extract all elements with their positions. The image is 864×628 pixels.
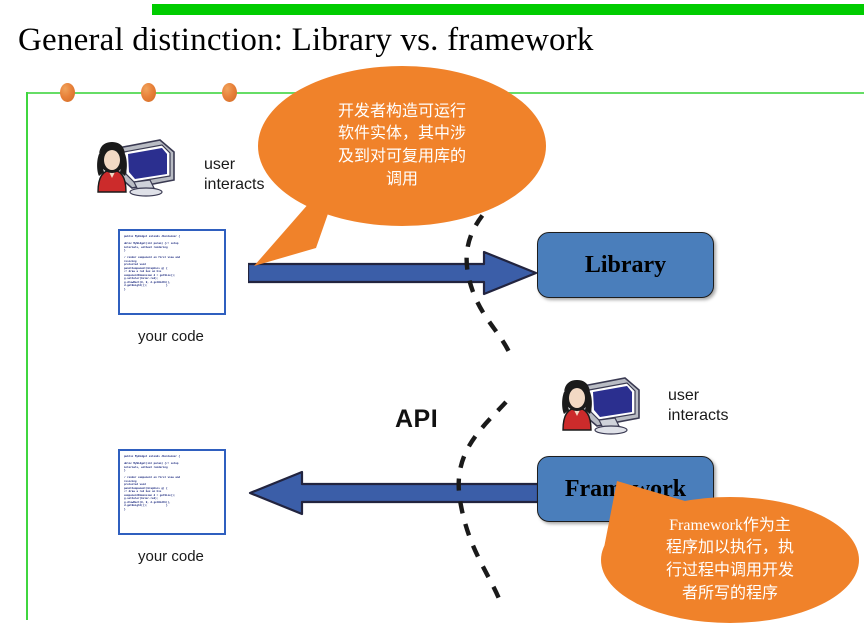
user-computer-icon — [88, 136, 180, 198]
vertical-rule — [26, 92, 28, 620]
decorative-bullet-3 — [222, 83, 237, 102]
library-callout: 开发者构造可运行 软件实体，其中涉 及到对可复用库的 调用 — [258, 66, 546, 226]
callout-line: 者所写的程序 — [682, 583, 778, 606]
decorative-bullet-2 — [141, 83, 156, 102]
framework-callout: Framework作为主 程序加以执行，执 行过程中调用开发 者所写的程序 — [601, 497, 859, 623]
callout-text: 开发者构造可运行 软件实体，其中涉 及到对可复用库的 调用 — [258, 66, 546, 226]
user-computer-icon — [553, 374, 645, 436]
code-lines: public MyWidget extends JContainer { ubl… — [124, 455, 220, 511]
decorative-bullet-1 — [60, 83, 75, 102]
code-snippet-box-bottom: public MyWidget extends JContainer { ubl… — [118, 449, 226, 535]
callout-text: Framework作为主 程序加以执行，执 行过程中调用开发 者所写的程序 — [601, 497, 859, 623]
api-label-bottom: API — [395, 405, 438, 434]
callout-line: 开发者构造可运行 — [338, 101, 466, 124]
user-label-line1: user — [668, 386, 728, 406]
api-boundary-curve-bottom — [432, 398, 522, 610]
callout-line: 软件实体，其中涉 — [338, 123, 466, 146]
user-label-line2: interacts — [668, 406, 728, 426]
top-accent-bar — [152, 4, 864, 15]
your-code-label-top: your code — [138, 328, 204, 345]
slide-title: General distinction: Library vs. framewo… — [18, 22, 838, 59]
callout-line: Framework作为主 — [669, 515, 791, 538]
code-snippet-box-top: public MyWidget extends JContainer { ubl… — [118, 229, 226, 315]
callout-line: 程序加以执行，执 — [666, 537, 794, 560]
user-interacts-label-bottom: user interacts — [668, 386, 728, 425]
your-code-label-bottom: your code — [138, 548, 204, 565]
callout-line: 及到对可复用库的 — [338, 146, 466, 169]
code-lines: public MyWidget extends JContainer { ubl… — [124, 235, 220, 291]
callout-line: 行过程中调用开发 — [666, 560, 794, 583]
callout-line: 调用 — [386, 169, 418, 192]
library-box: Library — [537, 232, 714, 298]
